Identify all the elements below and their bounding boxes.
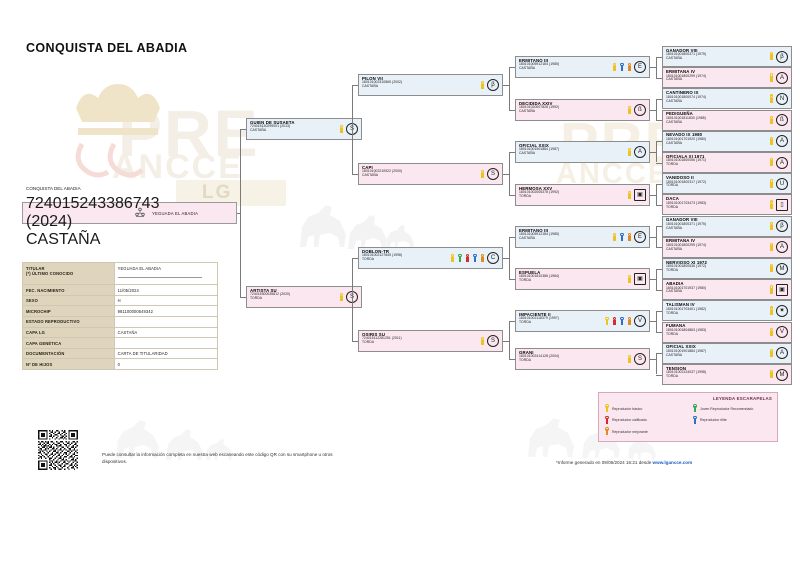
rosette-icon	[627, 317, 633, 326]
table-row-sexo: SEXO H	[23, 295, 218, 306]
pedigree-coat: CASTAÑA	[519, 237, 609, 241]
rosette-icon	[769, 370, 775, 379]
connector-horizontal	[656, 311, 662, 312]
connector-horizontal	[509, 152, 515, 153]
pedigree-box-gen5-7[interactable]: DACA180101001703473 (1983)TORDA▯	[662, 194, 792, 215]
legend-panel: LEYENDA ESCARAPELAS Reproductor básico R…	[598, 392, 778, 442]
connector-vertical	[509, 237, 510, 279]
rosette-icon	[604, 427, 610, 436]
pedigree-coat: TORDA	[666, 163, 766, 167]
rosette-icon	[627, 148, 633, 157]
pedigree-coat: TORDA	[519, 195, 624, 199]
connector-horizontal	[352, 258, 358, 259]
table-value-numhijos: 0	[114, 359, 217, 370]
rosette-icon	[769, 306, 775, 315]
table-key-titular: TITULAR (*) ÚLTIMO CONOCIDO	[23, 263, 115, 285]
pedigree-coat: TORDA	[250, 297, 336, 301]
pedigree-box-gen2-0[interactable]: GUIEN DE SUSAETA724015130299001 (2013)CA…	[246, 118, 362, 140]
pedigree-box-gen5-8[interactable]: GANADOR VIII180101001800371 (1975)CASTAÑ…	[662, 216, 792, 237]
connector-horizontal	[509, 279, 515, 280]
rosette-icon	[457, 254, 463, 263]
table-value-documentacion: CARTA DE TITULARIDAD	[114, 348, 217, 359]
pedigree-coat: CASTAÑA	[666, 121, 766, 125]
pedigree-badges: S	[480, 164, 503, 184]
pedigree-text: GRANI180101002414128 (2004)TORDA	[516, 349, 627, 369]
brand-marking-icon: M	[776, 369, 788, 381]
rosette-icon	[627, 106, 633, 115]
brand-marking-icon: V	[776, 326, 788, 338]
table-value-capagenetica	[114, 338, 217, 349]
pedigree-coat: TORDA	[666, 333, 766, 337]
pedigree-box-gen4-3[interactable]: HERMOSA XXV180101002005378 (1992)TORDA▣	[515, 184, 650, 206]
brand-marking-icon: ß	[776, 114, 788, 126]
pedigree-text: IMPACIENTE II180101002118379 (1997)TORDA	[516, 311, 604, 331]
pedigree-box-gen5-1[interactable]: ERMITANA IV180101001800299 (1974)CASTAÑA…	[662, 67, 792, 88]
legend-item: Reproductor mejorante	[604, 427, 688, 436]
table-row-capalg: CAPA LG CASTAÑA	[23, 327, 218, 338]
connector-vertical	[656, 226, 657, 247]
pedigree-box-gen5-14[interactable]: OFICIAL XXIX180101001901884 (1987)CASTAÑ…	[662, 343, 792, 364]
pedigree-coat: TORDA	[519, 359, 624, 363]
table-key-documentacion: DOCUMENTACIÓN	[23, 348, 115, 359]
rosette-icon	[339, 125, 345, 134]
table-row-fecnacimiento: FEC. NACIMIENTO 11/05/2024	[23, 285, 218, 296]
brand-marking-icon: C	[487, 252, 499, 264]
connector-vertical	[352, 85, 353, 174]
pedigree-coat: CASTAÑA	[519, 67, 609, 71]
table-key-sexo: SEXO	[23, 295, 115, 306]
table-key-fecnacimiento: FEC. NACIMIENTO	[23, 285, 115, 296]
connector-horizontal	[352, 341, 358, 342]
subject-name: CONQUISTA DEL ABADIA	[26, 186, 81, 191]
rosette-icon	[480, 254, 486, 263]
pedigree-box-gen5-11[interactable]: ABADIA180101001701937 (1980)CASTAÑA▣	[662, 279, 792, 300]
pedigree-badges: ▣	[627, 185, 650, 205]
pedigree-text: ERMITANO III180101005912184 (1985)CASTAÑ…	[516, 227, 612, 247]
pedigree-badges: S	[339, 119, 362, 139]
qr-note: Puede consultar la información completa …	[102, 452, 342, 466]
connector-vertical	[656, 99, 657, 120]
pedigree-text: NERVIOSO XI 1972180101001800536 (1972)TO…	[663, 259, 769, 278]
pedigree-text: PILON VII180101002310865 (2002)CASTAÑA	[359, 75, 480, 95]
rosette-icon	[619, 63, 625, 72]
watermark-pre: PRE	[118, 95, 260, 171]
pedigree-text: ERMITANO III180101005912184 (1985)CASTAÑ…	[516, 57, 612, 77]
rosette-icon	[627, 191, 633, 200]
table-key-estadoreproductivo: ESTADO REPRODUCTIVO	[23, 317, 115, 328]
pedigree-text: OFICIALA XI 1971180101001800056 (1971)TO…	[663, 153, 769, 172]
pedigree-text: ERMITANA IV180101001800299 (1974)CASTAÑA	[663, 68, 769, 87]
connector-horizontal	[509, 195, 515, 196]
brand-marking-icon: A	[776, 347, 788, 359]
brand-marking-icon: β	[487, 79, 499, 91]
pedigree-badges: V	[604, 311, 649, 331]
pedigree-certificate-page: PRE ANCCE LG PRE ANCCE CONQUISTA DEL ABA…	[0, 0, 800, 565]
rosette-icon	[769, 94, 775, 103]
pedigree-coat: TORDA	[666, 206, 766, 210]
pedigree-text: FUMANA180101001804863 (1983)TORDA	[663, 323, 769, 342]
watermark-horses-left	[290, 195, 420, 255]
connector-vertical	[352, 258, 353, 341]
pedigree-badges: V	[769, 323, 792, 342]
pedigree-box-gen5-10[interactable]: NERVIOSO XI 1972180101001800536 (1972)TO…	[662, 258, 792, 279]
brand-marking-icon: U	[776, 178, 788, 190]
connector-vertical	[656, 141, 657, 162]
pedigree-box-gen5-15[interactable]: TENSION180101002124037 (1998)TORDAM	[662, 364, 792, 385]
connector-horizontal	[656, 78, 662, 79]
pedigree-text: PEDIGUEÑA180101001811830 (1985)CASTAÑA	[663, 111, 769, 130]
connector-vertical	[656, 269, 657, 290]
connector-vertical	[656, 184, 657, 205]
qr-code[interactable]	[38, 430, 78, 470]
brand-marking-icon: A	[776, 135, 788, 147]
connector-horizontal	[656, 141, 662, 142]
rosette-icon	[769, 328, 775, 337]
pedigree-text: NEVADO IX 1980180101001701920 (1980)CAST…	[663, 132, 769, 151]
connector-horizontal	[656, 247, 662, 248]
pedigree-box-gen3-0[interactable]: PILON VII180101002310865 (2002)CASTAÑAβ	[358, 74, 503, 96]
pedigree-text: GANADOR VIII180101001800371 (1975)CASTAÑ…	[663, 47, 769, 66]
rosette-icon	[604, 416, 610, 425]
pedigree-badges: ▣	[769, 280, 792, 299]
connector-horizontal	[656, 226, 662, 227]
brand-marking-icon: M	[776, 263, 788, 275]
table-value-titular: YEGUADA EL ABADIA	[114, 263, 217, 285]
pedigree-coat: CASTAÑA	[666, 142, 766, 146]
rosette-icon	[619, 233, 625, 242]
pedigree-badges: C	[450, 248, 503, 268]
connector-horizontal	[352, 85, 358, 86]
pedigree-badges: E	[612, 57, 650, 77]
connector-horizontal	[656, 290, 662, 291]
pedigree-text: ESPUELA180101001810386 (1984)TORDA	[516, 269, 627, 289]
pedigree-box-gen5-3[interactable]: PEDIGUEÑA180101001811830 (1985)CASTAÑAß	[662, 110, 792, 131]
pedigree-coat: CASTAÑA	[362, 174, 477, 178]
pedigree-badges: M	[769, 365, 792, 384]
pedigree-text: ERMITANA IV180101001800299 (1974)CASTAÑA	[663, 238, 769, 257]
rosette-icon	[769, 243, 775, 252]
table-key-numhijos: Nº DE HIJOS	[23, 359, 115, 370]
pedigree-coat: TORDA	[362, 341, 477, 345]
pedigree-text: CAPI180101002210922 (2000)CASTAÑA	[359, 164, 480, 184]
pedigree-badges: E	[612, 227, 650, 247]
connector-horizontal	[656, 57, 662, 58]
pedigree-text: TALISMAN IV180101001703401 (1982)TORDA	[663, 301, 769, 320]
brand-marking-icon: β	[776, 51, 788, 63]
pedigree-text: TENSION180101002124037 (1998)TORDA	[663, 365, 769, 384]
pedigree-badges: ß	[769, 111, 792, 130]
pedigree-coat: CASTAÑA	[666, 354, 766, 358]
table-value-estadoreproductivo	[114, 317, 217, 328]
pedigree-text: GUIEN DE SUSAETA724015130299001 (2013)CA…	[247, 119, 339, 139]
pedigree-badges: ✷	[769, 301, 792, 320]
rosette-icon	[769, 285, 775, 294]
table-key-capagenetica: CAPA GENÉTICA	[23, 338, 115, 349]
brand-marking-icon: S	[487, 335, 499, 347]
pedigree-text: ABADIA180101001701937 (1980)CASTAÑA	[663, 280, 769, 299]
table-row-titular: TITULAR (*) ÚLTIMO CONOCIDO YEGUADA EL A…	[23, 263, 218, 285]
connector-horizontal	[352, 174, 358, 175]
pedigree-badges: A	[769, 238, 792, 257]
rosette-icon	[612, 233, 618, 242]
brand-marking-icon: ß	[634, 104, 646, 116]
rosette-icon	[627, 355, 633, 364]
table-value-microchip: 981100000549342	[114, 306, 217, 317]
rosette-icon	[612, 63, 618, 72]
connector-horizontal	[509, 237, 515, 238]
brand-marking-icon: V	[634, 315, 646, 327]
rosette-icon	[769, 73, 775, 82]
connector-horizontal	[656, 332, 662, 333]
pedigree-text: DACA180101001703473 (1983)TORDA	[663, 195, 769, 214]
connector-horizontal	[656, 353, 662, 354]
pedigree-text: ARTISTA SU724015300035812 (2020)TORDA	[247, 287, 339, 307]
table-row-microchip: MICROCHIP 981100000549342	[23, 306, 218, 317]
watermark-crown-logo	[58, 60, 178, 180]
rosette-icon	[465, 254, 471, 263]
pedigree-box-gen5-6[interactable]: VANIDOSO II180101001800317 (1972)TORDAU	[662, 173, 792, 194]
pedigree-box-gen3-3[interactable]: OSIRIS SU724015112281251 (2011)TORDAS	[358, 330, 503, 352]
connector-vertical	[509, 321, 510, 359]
pedigree-badges: β	[769, 47, 792, 66]
rosette-icon	[627, 275, 633, 284]
connector-horizontal	[509, 110, 515, 111]
rosette-icon	[769, 52, 775, 61]
pedigree-box-gen4-6[interactable]: IMPACIENTE II180101002118379 (1997)TORDA…	[515, 310, 650, 332]
pedigree-text: DOBLON-TR180101002127845 (1998)TORDA	[359, 248, 450, 268]
rosette-icon	[769, 116, 775, 125]
pedigree-text: VANIDOSO II180101001800317 (1972)TORDA	[663, 174, 769, 193]
pedigree-coat: CASTAÑA	[666, 100, 766, 104]
connector-horizontal	[656, 99, 662, 100]
brand-marking-icon: ▯	[776, 199, 788, 211]
rosette-icon	[472, 254, 478, 263]
connector-horizontal	[656, 375, 662, 376]
brand-marking-icon: ▣	[634, 189, 646, 201]
rosette-icon	[769, 349, 775, 358]
pedigree-coat: TORDA	[362, 258, 447, 262]
pedigree-box-gen4-7[interactable]: GRANI180101002414128 (2004)TORDAS	[515, 348, 650, 370]
table-row-estadoreproductivo: ESTADO REPRODUCTIVO	[23, 317, 218, 328]
pedigree-badges: ß	[627, 100, 650, 120]
legend-item: Joven Reproductor Recomendado	[692, 404, 753, 413]
brand-marking-icon: ▣	[634, 273, 646, 285]
table-key-capalg: CAPA LG	[23, 327, 115, 338]
table-row-numhijos: Nº DE HIJOS 0	[23, 359, 218, 370]
table-value-sexo: H	[114, 295, 217, 306]
pedigree-coat: CASTAÑA	[666, 227, 766, 231]
brand-marking-icon: ▣	[776, 284, 788, 296]
pedigree-box-gen5-12[interactable]: TALISMAN IV180101001703401 (1982)TORDA✷	[662, 300, 792, 321]
subject-text: CONQUISTA DEL ABADIA 724015243386743 (20…	[23, 176, 134, 251]
rosette-icon	[692, 416, 698, 425]
pedigree-box-gen4-4[interactable]: ERMITANO III180101005912184 (1985)CASTAÑ…	[515, 226, 650, 248]
pedigree-badges: ▯	[769, 195, 792, 214]
pedigree-text: OSIRIS SU724015112281251 (2011)TORDA	[359, 331, 480, 351]
table-key-microchip: MICROCHIP	[23, 306, 115, 317]
pedigree-coat: TORDA	[519, 279, 624, 283]
pedigree-badges: S	[339, 287, 362, 307]
pedigree-text: OFICIAL XXIX180101001901884 (1987)CASTAÑ…	[663, 344, 769, 363]
rosette-icon	[339, 293, 345, 302]
pedigree-coat: TORDA	[666, 184, 766, 188]
pedigree-badges: U	[769, 174, 792, 193]
legend-item: Reproductor básico	[604, 404, 688, 413]
pedigree-coat: CASTAÑA	[666, 248, 766, 252]
pedigree-text: GANADOR VIII180101001800371 (1975)CASTAÑ…	[663, 217, 769, 236]
pedigree-box-gen4-1[interactable]: DECIDIDA XXIV180101020007828 (1992)CASTA…	[515, 99, 650, 121]
rosette-icon	[769, 179, 775, 188]
connector-horizontal	[656, 269, 662, 270]
brand-marking-icon: A	[634, 146, 646, 158]
rosette-icon	[769, 222, 775, 231]
pedigree-coat: TORDA	[519, 321, 601, 325]
rosette-icon	[769, 200, 775, 209]
pedigree-coat: CASTAÑA	[666, 78, 766, 82]
connector-vertical	[509, 152, 510, 195]
connector-horizontal	[240, 297, 246, 298]
signature-line	[118, 277, 203, 278]
table-row-capagenetica: CAPA GENÉTICA	[23, 338, 218, 349]
connector-horizontal	[656, 205, 662, 206]
brand-marking-icon: E	[634, 231, 646, 243]
subject-breeder: YEGUADA EL ABADIA	[134, 207, 198, 219]
pedigree-badges: S	[627, 349, 650, 369]
brand-marking-icon: A	[776, 157, 788, 169]
pedigree-text: DECIDIDA XXIV180101020007828 (1992)CASTA…	[516, 100, 627, 120]
pedigree-coat: CASTAÑA	[519, 110, 624, 114]
rosette-icon	[769, 137, 775, 146]
table-value-fecnacimiento: 11/05/2024	[114, 285, 217, 296]
connector-horizontal	[656, 184, 662, 185]
brand-marking-icon: ✷	[776, 305, 788, 317]
connector-horizontal	[509, 67, 515, 68]
footer-note: *Informe generado en 09/06/2024 16:21 de…	[556, 460, 692, 465]
brand-marking-icon: A	[776, 241, 788, 253]
pedigree-coat: CASTAÑA	[362, 85, 477, 89]
legend-column-left: Reproductor básico Reproductor calificad…	[604, 404, 688, 436]
pedigree-box-gen5-0[interactable]: GANADOR VIII180101001800371 (1975)CASTAÑ…	[662, 46, 792, 67]
pedigree-text: CANTINERO IX180101001800074 (1974)CASTAÑ…	[663, 89, 769, 108]
rosette-icon	[604, 317, 610, 326]
connector-vertical	[656, 353, 657, 374]
brand-marking-icon: A	[776, 72, 788, 84]
connector-horizontal	[509, 321, 515, 322]
rosette-icon	[619, 317, 625, 326]
pedigree-badges: β	[480, 75, 503, 95]
subject-coat: CASTAÑA	[26, 231, 100, 248]
rosette-icon	[480, 337, 486, 346]
legend-item: Reproductor élite	[692, 416, 753, 425]
connector-vertical	[656, 57, 657, 78]
rosette-icon	[480, 81, 486, 90]
pedigree-box-gen2-1[interactable]: ARTISTA SU724015300035812 (2020)TORDAS	[246, 286, 362, 308]
pedigree-badges: A	[769, 344, 792, 363]
pedigree-box-gen3-1[interactable]: CAPI180101002210922 (2000)CASTAÑAS	[358, 163, 503, 185]
rosette-icon	[692, 404, 698, 413]
pedigree-box-gen5-5[interactable]: OFICIALA XI 1971180101001800056 (1971)TO…	[662, 152, 792, 173]
pedigree-coat: CASTAÑA	[250, 129, 336, 133]
pedigree-badges: A	[627, 142, 650, 162]
brand-marking-icon: β	[776, 220, 788, 232]
pedigree-badges: A	[769, 132, 792, 151]
horse-data-table-body: TITULAR (*) ÚLTIMO CONOCIDO YEGUADA EL A…	[23, 263, 218, 370]
pedigree-box-gen5-4[interactable]: NEVADO IX 1980180101001701920 (1980)CAST…	[662, 131, 792, 152]
pedigree-badges: N	[769, 89, 792, 108]
legend-column-right: Joven Reproductor Recomendado Reproducto…	[692, 404, 753, 436]
horse-data-table: TITULAR (*) ÚLTIMO CONOCIDO YEGUADA EL A…	[22, 262, 218, 370]
pedigree-box-gen4-2[interactable]: OFICIAL XXIX180101001901884 (1987)CASTAÑ…	[515, 141, 650, 163]
footer-link[interactable]: www.lgancce.com	[653, 460, 693, 465]
connector-horizontal	[656, 163, 662, 164]
brand-marking-icon: S	[634, 353, 646, 365]
table-row-documentacion: DOCUMENTACIÓN CARTA DE TITULARIDAD	[23, 348, 218, 359]
pedigree-badges: A	[769, 153, 792, 172]
pedigree-badges: β	[769, 217, 792, 236]
page-title: CONQUISTA DEL ABADIA	[26, 41, 187, 55]
rosette-icon	[769, 264, 775, 273]
pedigree-badges: A	[769, 68, 792, 87]
connector-vertical	[240, 129, 241, 297]
pedigree-box-gen4-0[interactable]: ERMITANO III180101005912184 (1985)CASTAÑ…	[515, 56, 650, 78]
brand-marking-icon: N	[776, 93, 788, 105]
brand-marking-icon: S	[487, 168, 499, 180]
pedigree-coat: CASTAÑA	[666, 57, 766, 61]
rosette-icon	[450, 254, 456, 263]
pedigree-box-gen4-5[interactable]: ESPUELA180101001810386 (1984)TORDA▣	[515, 268, 650, 290]
pedigree-coat: TORDA	[666, 269, 766, 273]
pedigree-text: OFICIAL XXIX180101001901884 (1987)CASTAÑ…	[516, 142, 627, 162]
pedigree-box-gen3-2[interactable]: DOBLON-TR180101002127845 (1998)TORDAC	[358, 247, 503, 269]
pedigree-box-gen5-13[interactable]: FUMANA180101001804863 (1983)TORDAV	[662, 322, 792, 343]
pedigree-coat: CASTAÑA	[666, 290, 766, 294]
pedigree-badges: S	[480, 331, 503, 351]
connector-horizontal	[509, 359, 515, 360]
legend-item: Reproductor calificado	[604, 416, 688, 425]
pedigree-badges: M	[769, 259, 792, 278]
footer-generated-text: *Informe generado en 09/06/2024 16:21 de…	[556, 460, 653, 465]
pedigree-box-gen5-9[interactable]: ERMITANA IV180101001800299 (1974)CASTAÑA…	[662, 237, 792, 258]
rosette-icon	[604, 404, 610, 413]
table-value-capalg: CASTAÑA	[114, 327, 217, 338]
connector-horizontal	[656, 120, 662, 121]
connector-horizontal	[240, 129, 246, 130]
rosette-icon	[627, 63, 633, 72]
pedigree-box-gen5-2[interactable]: CANTINERO IX180101001800074 (1974)CASTAÑ…	[662, 88, 792, 109]
rosette-icon	[769, 158, 775, 167]
pedigree-coat: CASTAÑA	[519, 152, 624, 156]
rosette-icon	[612, 317, 618, 326]
connector-vertical	[656, 311, 657, 332]
pedigree-text: HERMOSA XXV180101002005378 (1992)TORDA	[516, 185, 627, 205]
subject-box: CONQUISTA DEL ABADIA 724015243386743 (20…	[22, 202, 237, 224]
brand-marking-icon: E	[634, 61, 646, 73]
connector-vertical	[509, 67, 510, 110]
pedigree-coat: TORDA	[666, 375, 766, 379]
breeder-name: YEGUADA EL ABADIA	[152, 211, 198, 216]
pedigree-coat: TORDA	[666, 312, 766, 316]
breeder-icon	[134, 207, 146, 219]
legend-columns: Reproductor básico Reproductor calificad…	[604, 404, 772, 436]
pedigree-badges: ▣	[627, 269, 650, 289]
rosette-icon	[627, 233, 633, 242]
legend-title: LEYENDA ESCARAPELAS	[604, 396, 772, 401]
rosette-icon	[480, 170, 486, 179]
